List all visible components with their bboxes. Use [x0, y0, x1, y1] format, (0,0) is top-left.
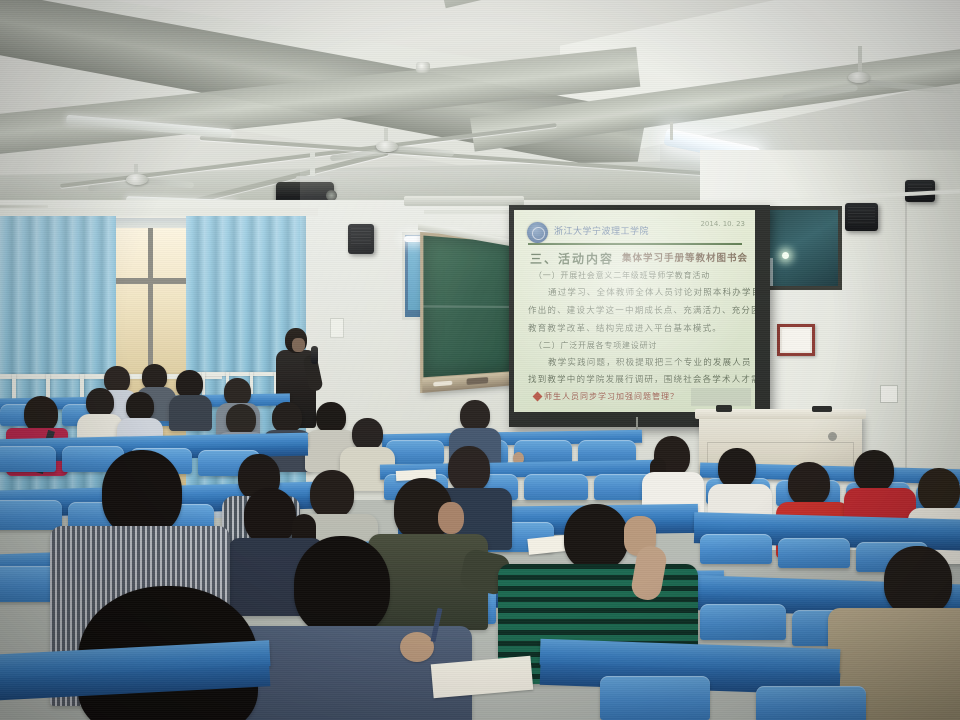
attendee-head	[884, 546, 952, 616]
seat-row-3-f[interactable]	[700, 534, 772, 564]
framed-notice	[777, 324, 815, 356]
chalkboard-divider	[423, 305, 513, 308]
notice-content	[782, 329, 810, 351]
slide-item-2-para-a: 教学实践问题，积极提取把三个专业的发展人员	[548, 356, 752, 368]
slide-university-name: 浙江大学宁波理工学院	[554, 224, 649, 237]
attendee-head	[310, 470, 354, 518]
projection-screen: 浙江大学宁波理工学院 2014. 10. 23 三、活动内容 集体学习手册等教材…	[509, 205, 770, 427]
lectern-microphone-base[interactable]	[812, 406, 832, 412]
attendee-head	[86, 388, 114, 417]
slide-section-heading: 三、活动内容	[530, 250, 614, 267]
seat-row-3-g[interactable]	[778, 538, 850, 568]
seat-row-front-b[interactable]	[756, 686, 866, 720]
attendee-head	[316, 402, 346, 433]
wall-speaker-left	[348, 224, 374, 254]
attendee-hand	[400, 632, 434, 662]
eraser	[467, 377, 489, 385]
attendee-head	[176, 370, 203, 398]
door-seam	[905, 190, 907, 490]
attendee-head	[564, 504, 628, 570]
lectern-knob[interactable]	[828, 432, 837, 441]
right-window-light-glint	[782, 252, 789, 259]
microphone-icon	[311, 346, 318, 364]
slide-date-stamp: 2014. 10. 23	[700, 220, 745, 228]
seat-row-front-a[interactable]	[600, 676, 710, 720]
curtain-rod	[0, 208, 318, 216]
seat-row-2-a[interactable]	[0, 446, 56, 472]
window-mullion-horizontal	[112, 278, 190, 284]
seat-row-4-d[interactable]	[700, 604, 786, 640]
wall-outlet[interactable]	[880, 385, 898, 403]
notebook-foreground	[431, 656, 534, 699]
attendee-head	[294, 536, 390, 636]
attendee-head	[24, 396, 58, 432]
projector-mount	[310, 152, 315, 178]
slide-item-2-para-b: 找到教学中的学院发展行调研，围绕社会各学术人才需求	[528, 373, 755, 385]
slide-item-1-para-b: 作出的、建设大学这一中期成长点、充满活力、充分团结	[528, 304, 755, 316]
attendee-torso	[169, 395, 212, 431]
slide-item-2-label: （二）广泛开展各专项建设研讨	[534, 340, 657, 351]
attendee-head	[854, 450, 894, 492]
chalkboard	[420, 232, 516, 393]
attendee-head	[918, 468, 960, 512]
attendee-head	[244, 488, 296, 544]
attendee-head	[104, 366, 130, 393]
fluorescent-hanger-right	[670, 122, 673, 140]
attendee-head	[718, 448, 756, 488]
sprinkler-head-icon	[416, 62, 430, 73]
attendee-head	[226, 404, 256, 435]
slide-item-1-label: （一）开展社会意义二年级班导师学教育活动	[534, 270, 710, 281]
attendee-head	[224, 378, 251, 406]
seat-row-3-a[interactable]	[0, 500, 62, 530]
lectern-remote[interactable]	[716, 405, 732, 412]
attendee-face	[438, 502, 464, 534]
slide-bullet-icon	[533, 392, 543, 402]
projected-slide: 浙江大学宁波理工学院 2014. 10. 23 三、活动内容 集体学习手册等教材…	[514, 210, 755, 412]
slide-subtitle: 集体学习手册等教材图书会	[622, 250, 748, 264]
presenter-face	[292, 338, 305, 352]
seat-row-2-g[interactable]	[524, 474, 588, 500]
wall-speaker-center	[845, 203, 878, 231]
attendee-head	[788, 462, 830, 506]
slide-footnote: 师生人员同步学习加强间题管理？	[544, 391, 679, 402]
screen-housing	[404, 196, 524, 206]
slide-item-1-para-a: 通过学习、全体教师全体人员讨论对照本科办学目标	[548, 286, 755, 298]
attendee-head	[126, 392, 154, 421]
attendee-head	[102, 450, 182, 536]
wall-switch[interactable]	[330, 318, 344, 338]
attendee-head	[460, 400, 490, 431]
attendee-head	[272, 402, 302, 433]
slide-header-rule	[528, 243, 742, 245]
university-emblem-icon	[527, 222, 548, 243]
attendee-head	[448, 446, 490, 492]
slide-item-1-para-c: 教育教学改革、结构完成进入平台基本模式。	[528, 322, 722, 334]
slide-corner-tag	[691, 388, 751, 406]
lecture-hall-photo: 浙江大学宁波理工学院 2014. 10. 23 三、活动内容 集体学习手册等教材…	[0, 0, 960, 720]
chalk-stick	[433, 381, 452, 387]
attendee-head	[352, 418, 383, 450]
